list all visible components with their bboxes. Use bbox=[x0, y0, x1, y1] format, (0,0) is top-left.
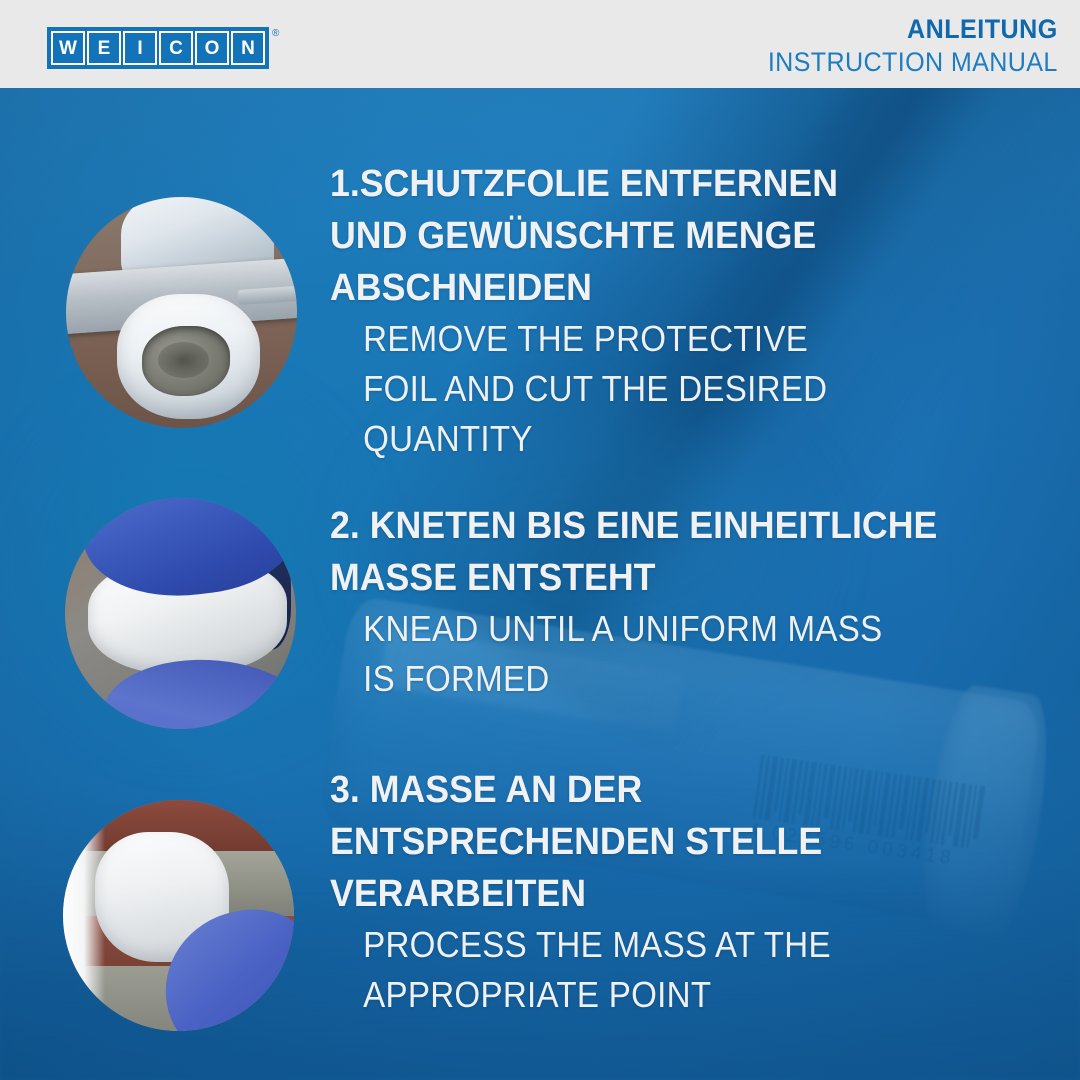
header-title-german: ANLEITUNG bbox=[768, 14, 1058, 44]
step-1-heading-de: 1.SCHUTZFOLIE ENTFERNEN UND GEWÜNSCHTE M… bbox=[330, 158, 1007, 314]
step-2: 2. KNETEN BIS EINE EINHEITLICHE MASSE EN… bbox=[330, 500, 1050, 704]
step-1-heading-en: REMOVE THE PROTECTIVE FOIL AND CUT THE D… bbox=[330, 314, 992, 464]
step-3: 3. MASSE AN DER ENTSPRECHENDEN STELLE VE… bbox=[330, 764, 1050, 1020]
logo-letter-w: W bbox=[51, 31, 85, 65]
registered-trademark-icon: ® bbox=[272, 28, 279, 39]
logo-letter-i: I bbox=[123, 31, 157, 65]
step-1: 1.SCHUTZFOLIE ENTFERNEN UND GEWÜNSCHTE M… bbox=[330, 158, 1050, 464]
header-title-english: INSTRUCTION MANUAL bbox=[768, 46, 1058, 78]
logo-letter-o: O bbox=[195, 31, 229, 65]
logo-letter-c: C bbox=[159, 31, 193, 65]
header-titles: ANLEITUNG INSTRUCTION MANUAL bbox=[746, 14, 1058, 78]
logo-letter-e: E bbox=[87, 31, 121, 65]
step-2-heading-de: 2. KNETEN BIS EINE EINHEITLICHE MASSE EN… bbox=[330, 500, 1007, 604]
instruction-manual-page: 4 024596 003418 W E I C O N ® ANLEITUNG … bbox=[0, 0, 1080, 1080]
logo-frame: W E I C O N bbox=[47, 27, 269, 69]
weicon-logo: W E I C O N ® bbox=[47, 27, 279, 69]
step-2-heading-en: KNEAD UNTIL A UNIFORM MASS IS FORMED bbox=[330, 604, 992, 704]
steps-list: 1.SCHUTZFOLIE ENTFERNEN UND GEWÜNSCHTE M… bbox=[0, 88, 1080, 1080]
step-3-heading-de: 3. MASSE AN DER ENTSPRECHENDEN STELLE VE… bbox=[330, 764, 1007, 920]
page-header: W E I C O N ® ANLEITUNG INSTRUCTION MANU… bbox=[0, 0, 1080, 88]
step-3-heading-en: PROCESS THE MASS AT THE APPROPRIATE POIN… bbox=[330, 920, 992, 1020]
logo-letter-n: N bbox=[231, 31, 265, 65]
